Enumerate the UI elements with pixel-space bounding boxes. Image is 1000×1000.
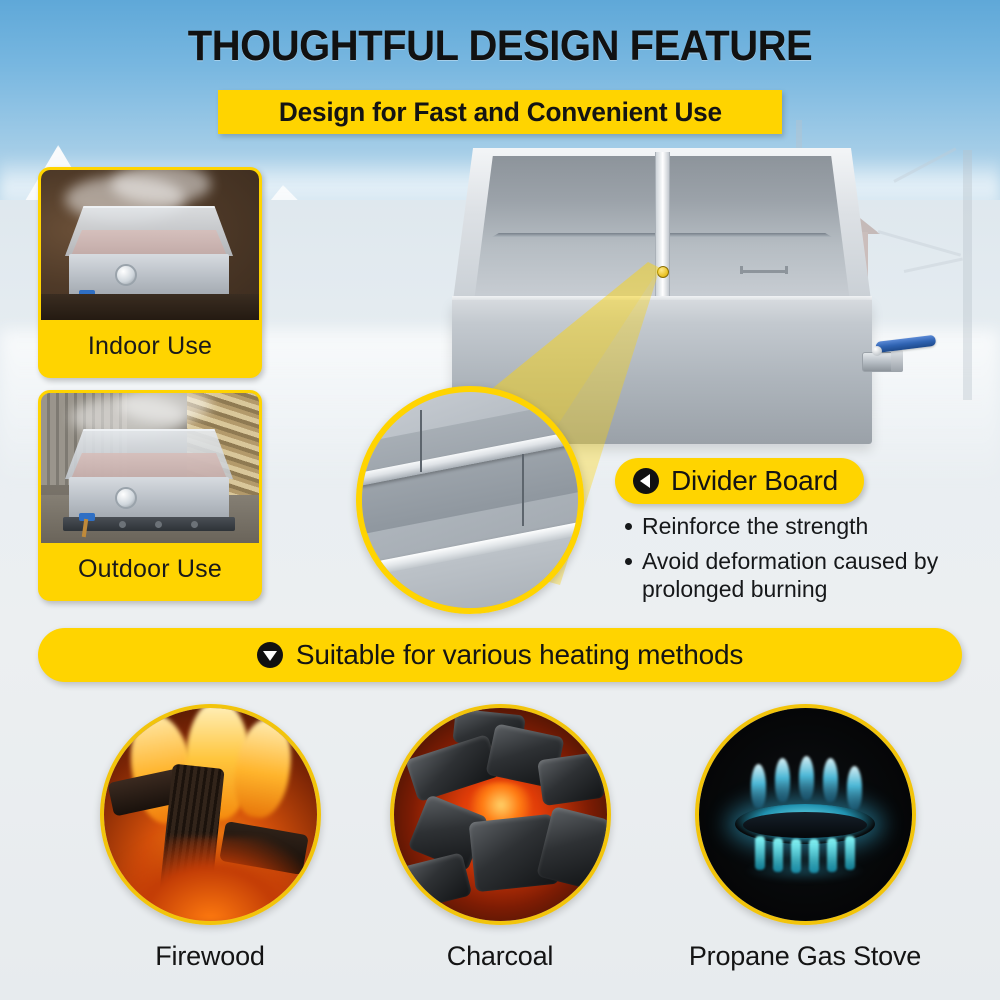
valve-icon [79,290,95,298]
list-item: Avoid deformation caused by prolonged bu… [625,547,955,604]
thermometer-gauge-icon [115,487,137,509]
subtitle-text: Design for Fast and Convenient Use [278,97,721,128]
firewood-flames-photo [100,704,321,925]
heating-methods-row: Firewood Charcoal [0,704,1000,994]
divider-board-pill[interactable]: Divider Board [615,458,864,504]
use-case-card-indoor[interactable]: Indoor Use [38,167,262,378]
triangle-left-icon [633,468,659,494]
bullet-dot-icon [625,523,632,530]
bullet-text: Avoid deformation caused by prolonged bu… [642,547,955,604]
heating-method-label: Firewood [60,941,360,972]
heating-method-label: Propane Gas Stove [655,941,955,972]
evaporator-pan-outdoor-photo [41,393,259,543]
blue-ball-valve-icon [862,338,942,378]
triangle-down-icon [257,642,283,668]
bullet-dot-icon [625,558,632,565]
use-case-label: Outdoor Use [41,543,259,595]
subtitle-banner: Design for Fast and Convenient Use [218,90,782,134]
mini-evaporator-pan [63,206,235,314]
use-case-card-outdoor[interactable]: Outdoor Use [38,390,262,601]
infographic-canvas: THOUGHTFUL DESIGN FEATURE Design for Fas… [0,0,1000,1000]
list-item: Reinforce the strength [625,512,955,541]
propane-burner-flame-photo [695,704,916,925]
magnifier-divider-closeup [356,386,584,614]
charcoal-embers-photo [390,704,611,925]
heating-method-firewood[interactable]: Firewood [60,704,360,972]
divider-board-pin-icon [657,266,669,278]
heating-method-charcoal[interactable]: Charcoal [350,704,650,972]
heating-methods-banner[interactable]: Suitable for various heating methods [38,628,962,682]
tree-trunk-icon [963,150,972,400]
heating-method-label: Charcoal [350,941,650,972]
divider-board [655,152,670,302]
heating-methods-banner-text: Suitable for various heating methods [296,639,743,671]
thermometer-gauge-icon [115,264,137,286]
pan-handle-icon [740,270,788,273]
heating-method-propane[interactable]: Propane Gas Stove [655,704,955,972]
evaporator-pan-indoor-photo [41,170,259,320]
divider-board-bullets: Reinforce the strength Avoid deformation… [625,512,955,610]
page-title: THOUGHTFUL DESIGN FEATURE [35,22,965,71]
mini-evaporator-pan [63,429,235,537]
use-case-label: Indoor Use [41,320,259,372]
bullet-text: Reinforce the strength [642,512,868,541]
divider-board-label: Divider Board [671,465,838,497]
